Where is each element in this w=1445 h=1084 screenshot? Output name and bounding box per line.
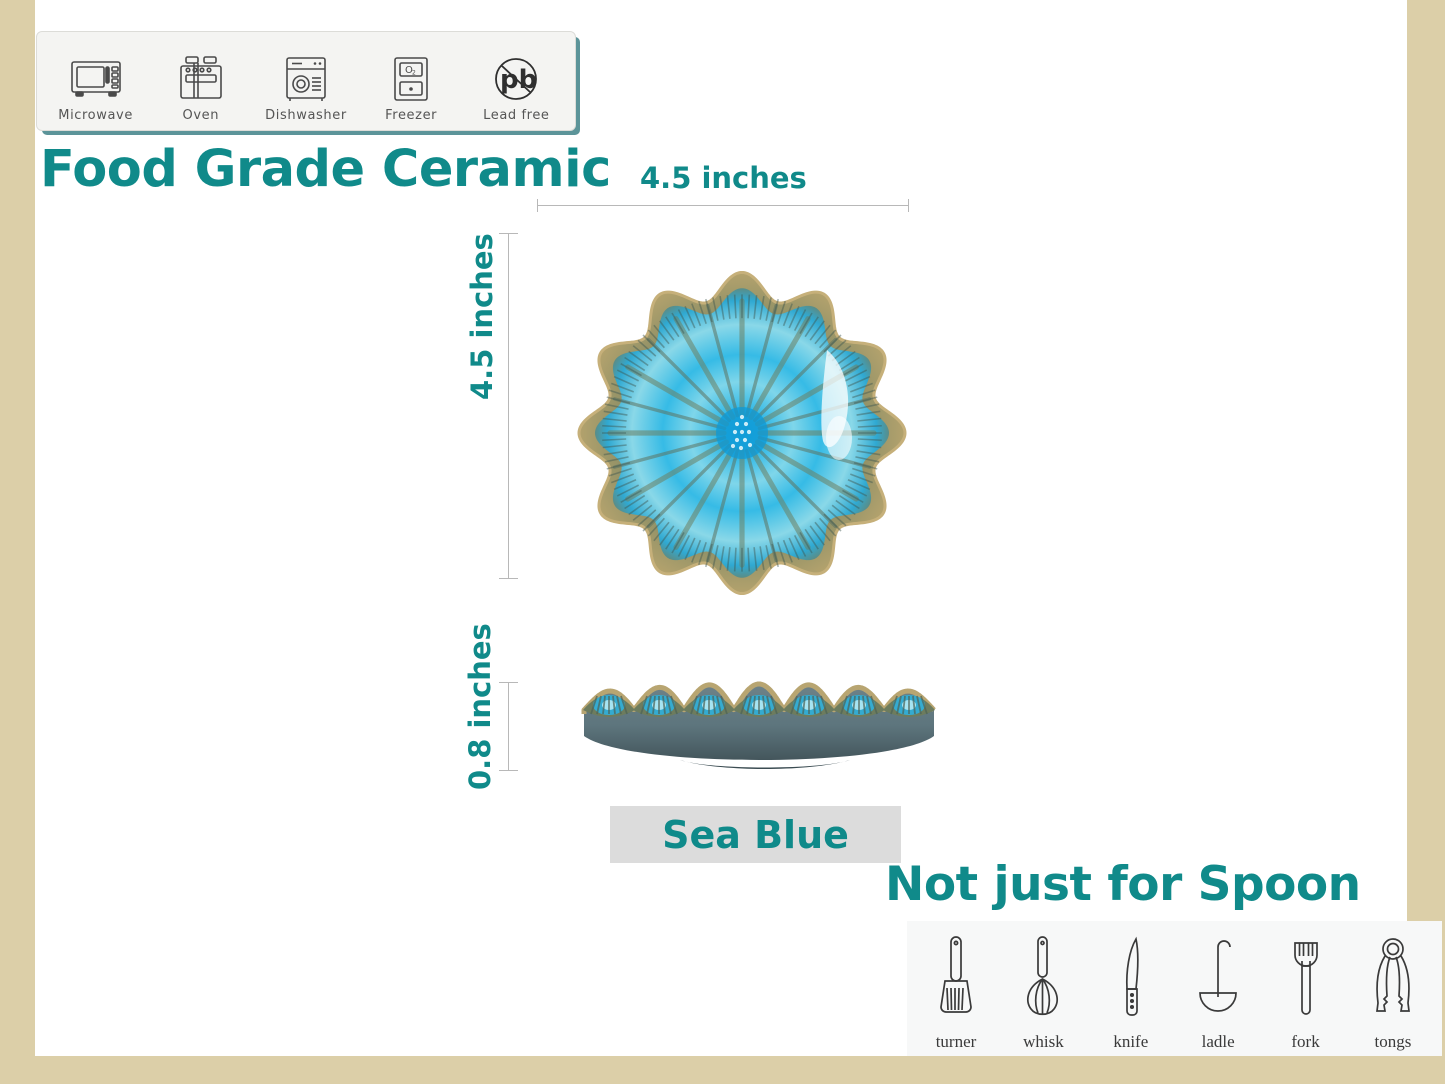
dimension-height-line [508,233,509,578]
dimension-width-label: 4.5 inches [640,161,807,195]
tongs-icon [1367,933,1419,1031]
dimension-width-cap-left [537,199,538,212]
fork-icon [1288,933,1324,1031]
utensil-strip: turner whisk [907,921,1442,1056]
dimension-height-label: 4.5 inches [465,233,499,400]
dimension-width-line [537,205,908,206]
badge-label: Lead free [483,108,549,123]
microwave-icon [69,53,123,105]
dishwasher-icon [282,53,330,105]
utensil-tongs: tongs [1350,933,1436,1052]
product-image-top-view [577,255,907,611]
turner-icon [933,933,979,1031]
dimension-height-cap-bottom [499,578,518,579]
utensil-ladle: ladle [1175,933,1261,1052]
dimension-depth-label: 0.8 inches [463,623,497,790]
infographic-page: Microwave [0,0,1445,1084]
oven-icon [176,53,226,105]
badge-label: Dishwasher [265,108,347,123]
whisk-icon [1021,933,1065,1031]
utensil-label: ladle [1202,1032,1235,1052]
badge-lead-free: pb Lead free [466,39,566,123]
utensil-turner: turner [913,933,999,1052]
utensil-label: fork [1291,1032,1319,1052]
feature-badge-bar: Microwave [36,31,576,131]
ladle-icon [1192,933,1244,1031]
svg-text:2: 2 [412,70,416,77]
badge-dishwasher: Dishwasher [256,39,356,123]
badge-label: Freezer [385,108,437,123]
section-title-not-just-for-spoon: Not just for Spoon [885,857,1361,912]
badge-label: Microwave [58,108,133,123]
badge-oven: Oven [151,39,251,123]
utensil-fork: fork [1263,933,1349,1052]
dimension-width-cap-right [908,199,909,212]
knife-icon [1109,933,1153,1031]
utensil-whisk: whisk [1000,933,1086,1052]
badge-freezer: O 2 Freezer [361,39,461,123]
dimension-depth-line [508,682,509,770]
utensil-label: turner [936,1032,977,1052]
dimension-depth-cap-bottom [499,770,518,771]
utensil-label: knife [1113,1032,1148,1052]
utensil-label: whisk [1023,1032,1064,1052]
utensil-label: tongs [1375,1032,1412,1052]
color-name-label: Sea Blue [662,813,849,857]
page-title-food-grade: Food Grade Ceramic [40,140,611,199]
utensil-knife: knife [1088,933,1174,1052]
color-name-chip: Sea Blue [610,806,901,863]
dimension-depth-cap-top [499,682,518,683]
freezer-icon: O 2 [391,53,431,105]
white-content-panel: Microwave [35,0,1407,1056]
dimension-height-cap-top [499,233,518,234]
product-image-side-view [570,660,948,784]
badge-microwave: Microwave [46,39,146,123]
badge-label: Oven [182,108,219,123]
svg-text:pb: pb [500,65,537,95]
lead-free-icon: pb [491,53,541,105]
